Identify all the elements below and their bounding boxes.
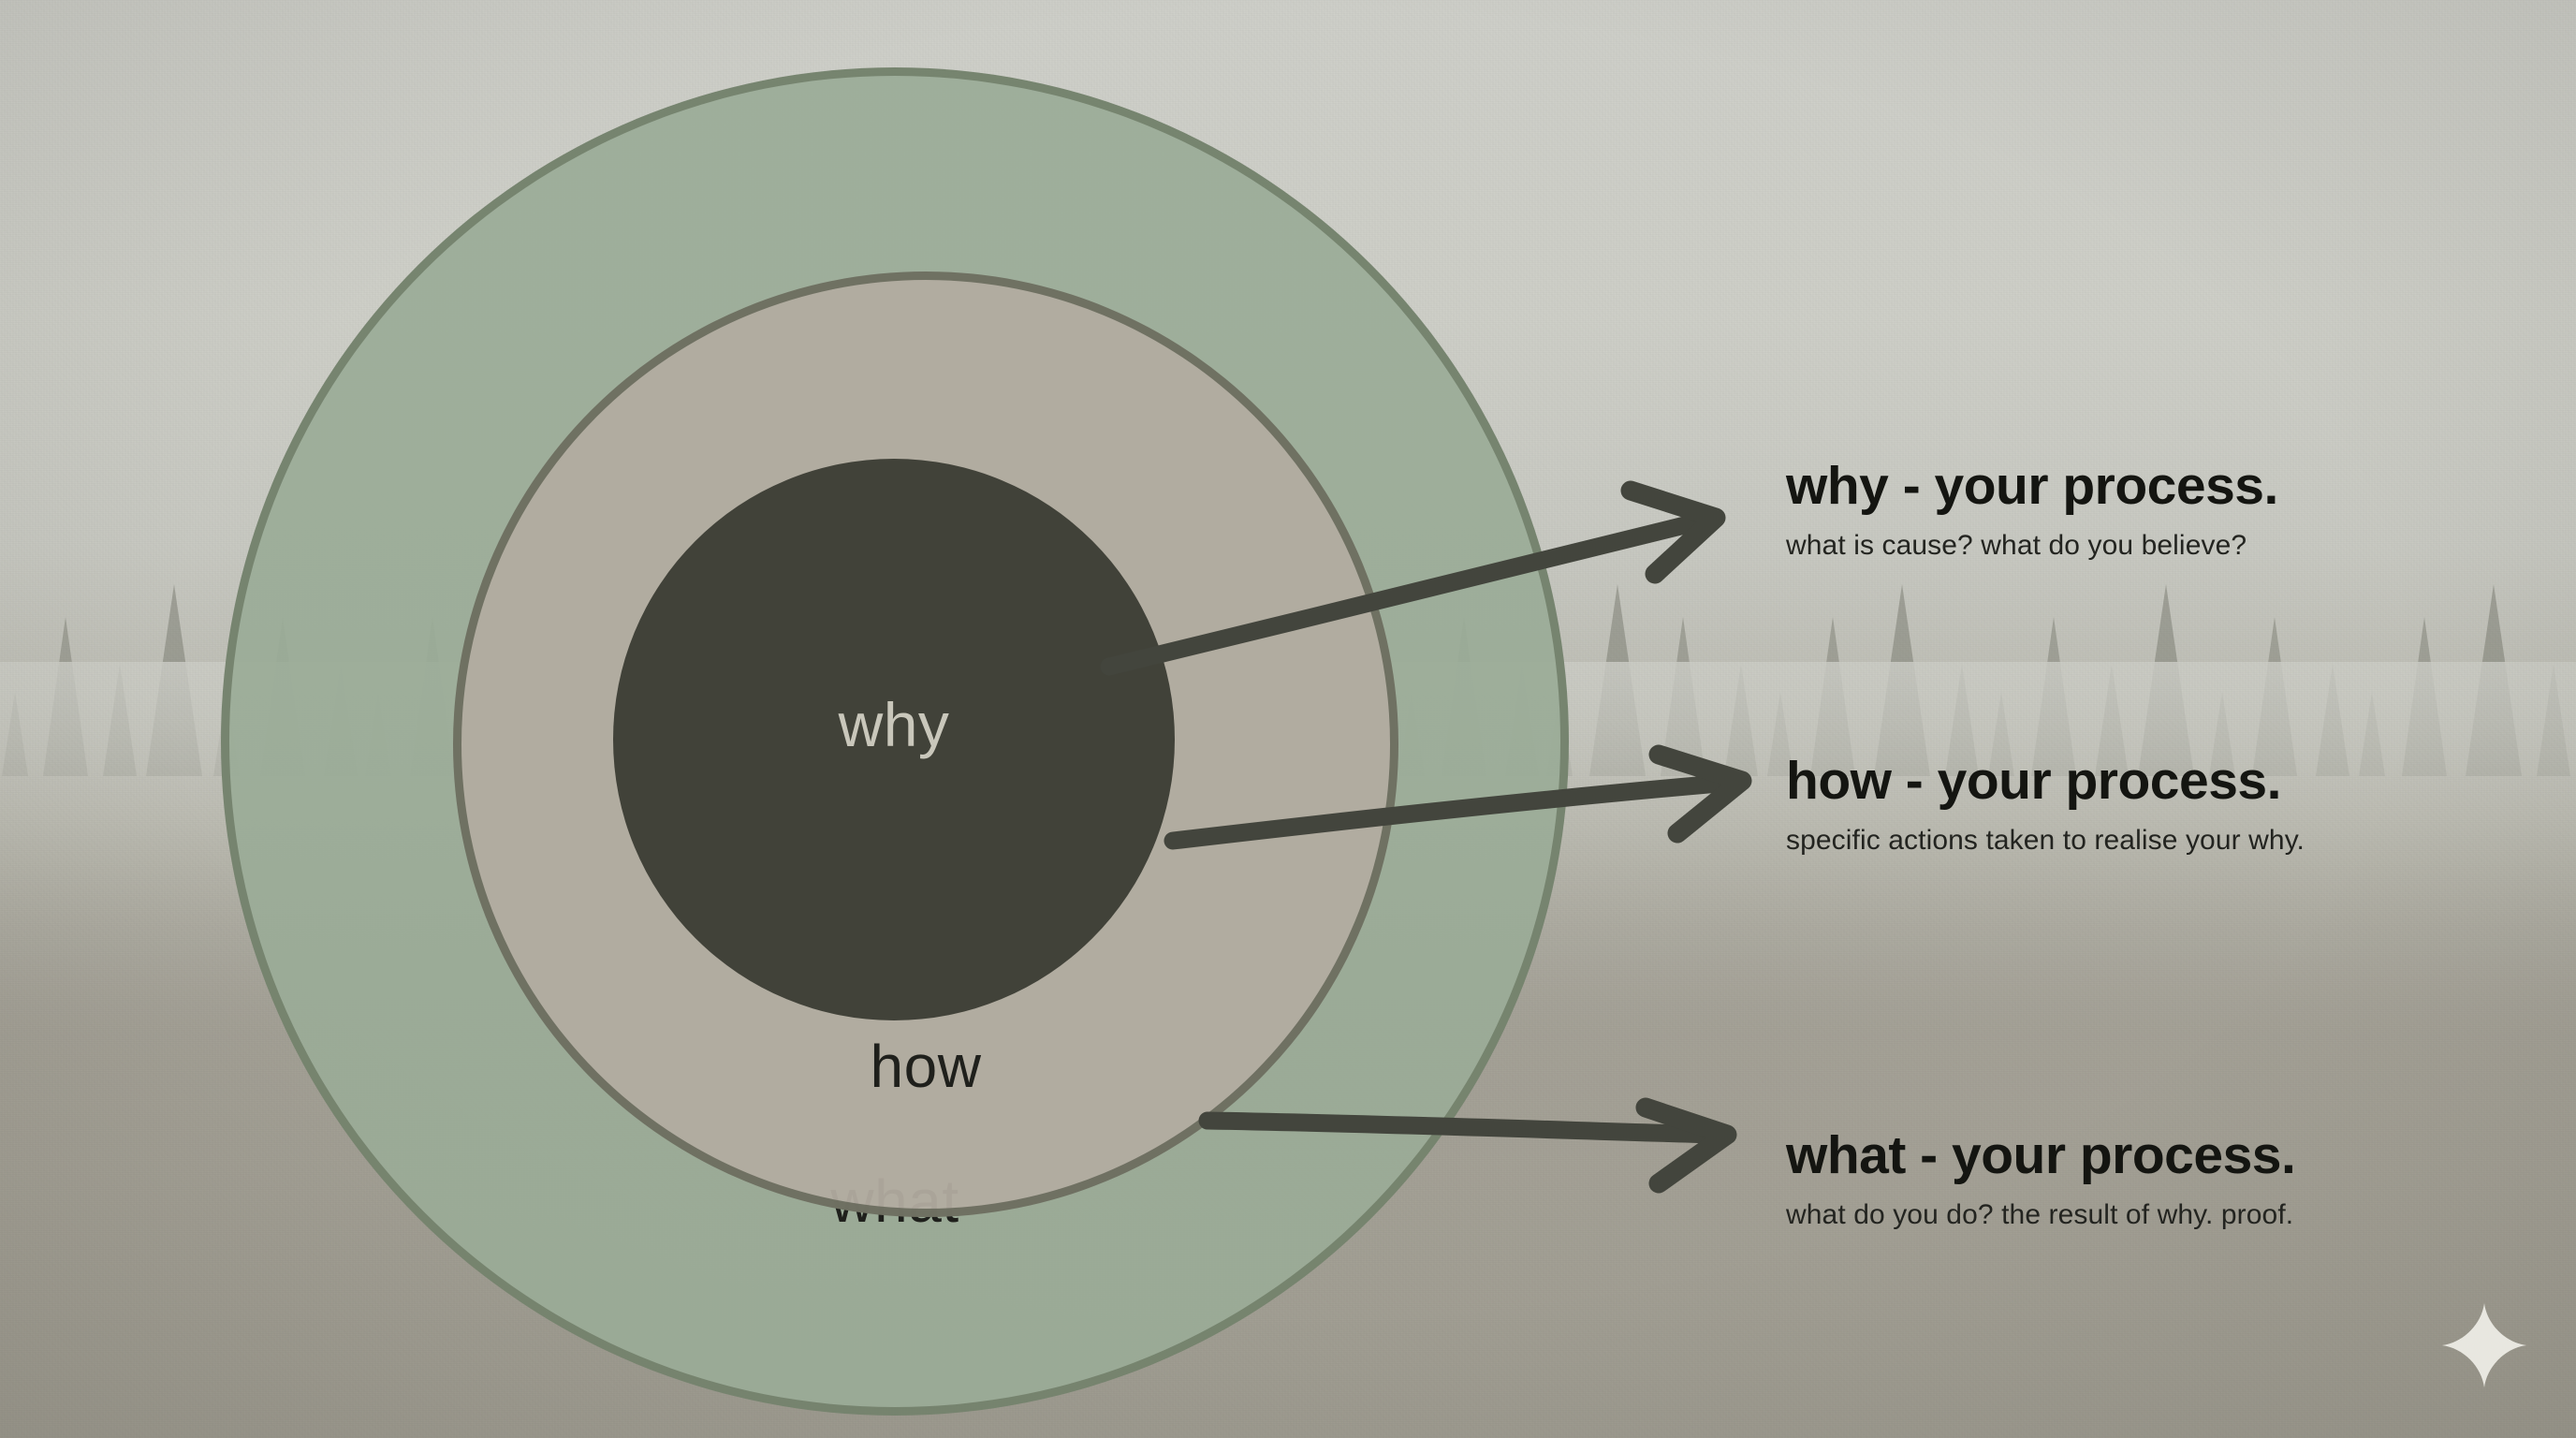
callout-how-sub: specific actions taken to realise your w…	[1786, 825, 2305, 857]
callout-why: why - your process. what is cause? what …	[1786, 459, 2278, 562]
callout-why-sub: what is cause? what do you believe?	[1786, 530, 2278, 562]
callout-how-headline: how - your process.	[1786, 754, 2305, 810]
callout-what-headline: what - your process.	[1786, 1128, 2295, 1184]
slide-canvas: what how why why - your pro	[0, 0, 2576, 1438]
callout-what: what - your process. what do you do? the…	[1786, 1128, 2295, 1231]
callout-why-headline: why - your process.	[1786, 459, 2278, 515]
callout-how: how - your process. specific actions tak…	[1786, 754, 2305, 857]
callout-what-sub: what do you do? the result of why. proof…	[1786, 1199, 2295, 1231]
ring-why-label: why	[613, 689, 1175, 760]
ring-how-label: how	[461, 1032, 1390, 1101]
ring-why[interactable]: why	[613, 459, 1175, 1020]
sparkle-icon	[2440, 1301, 2528, 1389]
